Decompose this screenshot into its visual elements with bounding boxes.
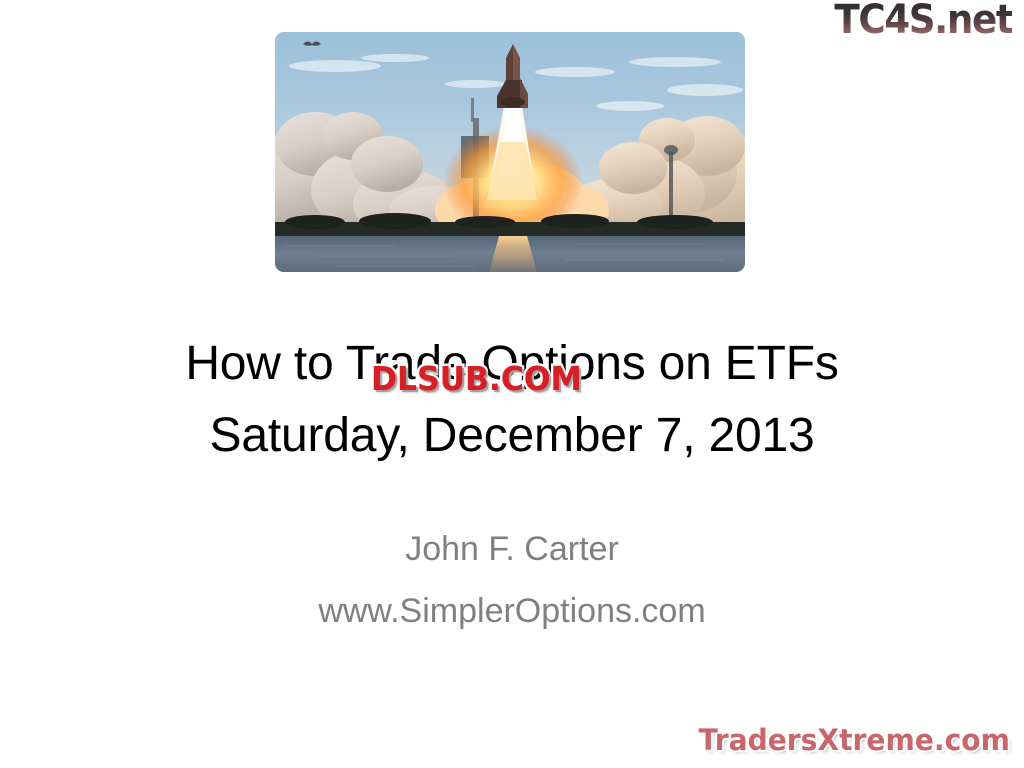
tc4s-watermark: TC4S.net	[834, 0, 1012, 42]
presentation-slide: TC4S.net	[0, 0, 1024, 768]
dlsub-watermark-fill: DLSUB.COM	[371, 360, 582, 398]
space-shuttle-launch-photo	[275, 32, 745, 272]
title-line-2: Saturday, December 7, 2013	[0, 400, 1024, 472]
slide-subtitle: John F. Carter www.SimplerOptions.com	[0, 518, 1024, 642]
tradersxtreme-watermark: TradersXtreme.com TradersXtreme.com	[699, 722, 1010, 758]
tradersxtreme-watermark-fill: TradersXtreme.com	[699, 722, 1010, 758]
launch-illustration	[275, 32, 745, 272]
slide-title: How to Trade Options on ETFs Saturday, D…	[0, 328, 1024, 472]
presenter-name: John F. Carter	[0, 518, 1024, 580]
presenter-website: www.SimplerOptions.com	[0, 580, 1024, 642]
dlsub-watermark: DLSUB.COM DLSUB.COM	[371, 360, 582, 398]
